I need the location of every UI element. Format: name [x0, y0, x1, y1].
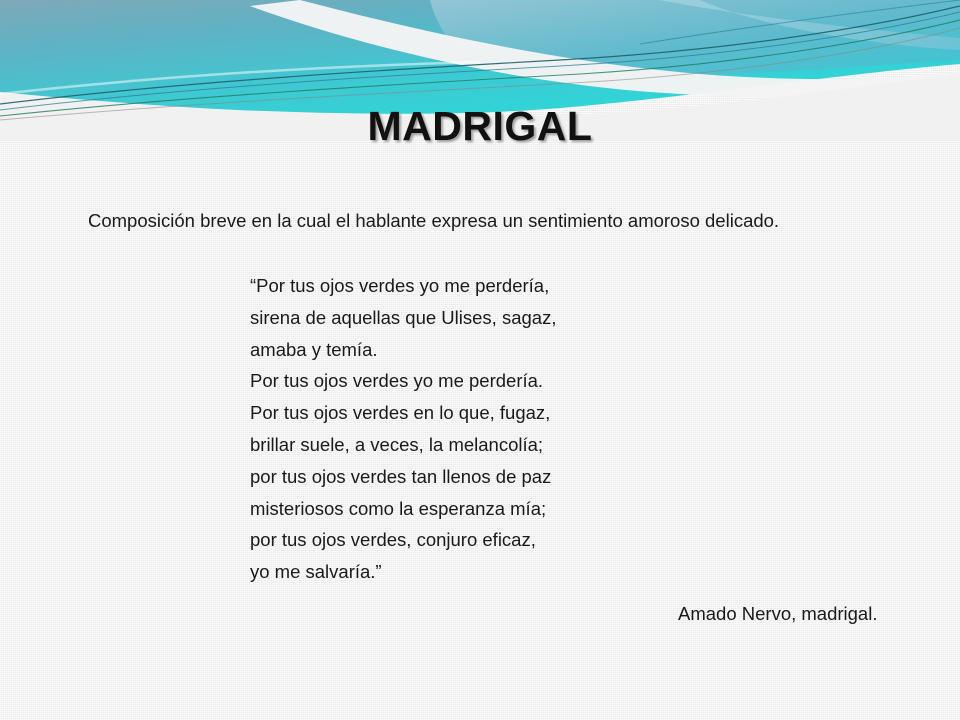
poem-line: por tus ojos verdes tan llenos de paz — [250, 461, 690, 493]
slide-content: MADRIGAL Composición breve en la cual el… — [0, 0, 960, 720]
poem-line: brillar suele, a veces, la melancolía; — [250, 429, 690, 461]
poem-line: “Por tus ojos verdes yo me perdería, — [250, 270, 690, 302]
poem-block: “Por tus ojos verdes yo me perdería, sir… — [250, 270, 690, 588]
poem-line: amaba y temía. — [250, 334, 690, 366]
slide-canvas: MADRIGAL Composición breve en la cual el… — [0, 0, 960, 720]
page-title: MADRIGAL — [0, 103, 960, 150]
poem-line: yo me salvaría.” — [250, 556, 690, 588]
poem-line: sirena de aquellas que Ulises, sagaz, — [250, 302, 690, 334]
attribution-text: Amado Nervo, madrigal. — [678, 603, 877, 625]
definition-text: Composición breve en la cual el hablante… — [88, 210, 779, 232]
poem-line: misteriosos como la esperanza mía; — [250, 493, 690, 525]
poem-line: Por tus ojos verdes yo me perdería. — [250, 365, 690, 397]
poem-line: Por tus ojos verdes en lo que, fugaz, — [250, 397, 690, 429]
poem-line: por tus ojos verdes, conjuro eficaz, — [250, 524, 690, 556]
